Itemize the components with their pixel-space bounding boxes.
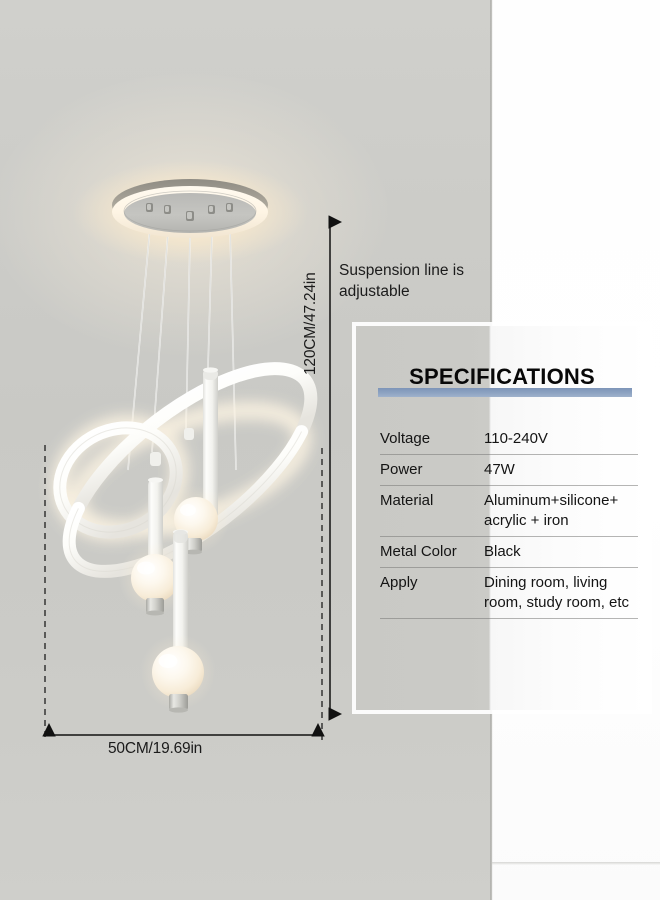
spec-row-empty [380, 619, 638, 653]
spec-key-apply: Apply [380, 568, 476, 598]
spec-row-power: Power 47W [380, 455, 638, 486]
spec-key-power: Power [380, 455, 476, 485]
suspension-note: Suspension line is adjustable [339, 260, 499, 302]
suspension-note-line1: Suspension line is [339, 260, 499, 281]
product-spec-image: 120CM/47.24in 50CM/19.69in Suspension li… [0, 0, 660, 900]
spec-row-voltage: Voltage 110-240V [380, 424, 638, 455]
width-dimension-label: 50CM/19.69in [108, 740, 202, 758]
spec-key-metal-color: Metal Color [380, 537, 476, 567]
specifications-panel: SPECIFICATIONS Voltage 110-240V Power 47… [352, 322, 652, 714]
spec-key-empty [380, 619, 476, 649]
spec-value-material: Aluminum+silicone+ acrylic + iron [476, 486, 638, 536]
spec-row-metal-color: Metal Color Black [380, 537, 638, 568]
spec-row-apply: Apply Dining room, living room, study ro… [380, 568, 638, 619]
spec-value-empty [476, 619, 638, 649]
spec-key-material: Material [380, 486, 476, 516]
spec-row-material: Material Aluminum+silicone+ acrylic + ir… [380, 486, 638, 537]
spec-value-power: 47W [476, 455, 638, 485]
suspension-note-line2: adjustable [339, 281, 499, 302]
spec-value-apply: Dining room, living room, study room, et… [476, 568, 638, 618]
spec-title: SPECIFICATIONS [405, 364, 599, 390]
spec-key-voltage: Voltage [380, 424, 476, 454]
spec-table: Voltage 110-240V Power 47W Material Alum… [380, 424, 638, 653]
spec-value-metal-color: Black [476, 537, 638, 567]
spec-value-voltage: 110-240V [476, 424, 638, 454]
height-dimension-label: 120CM/47.24in [302, 272, 320, 375]
